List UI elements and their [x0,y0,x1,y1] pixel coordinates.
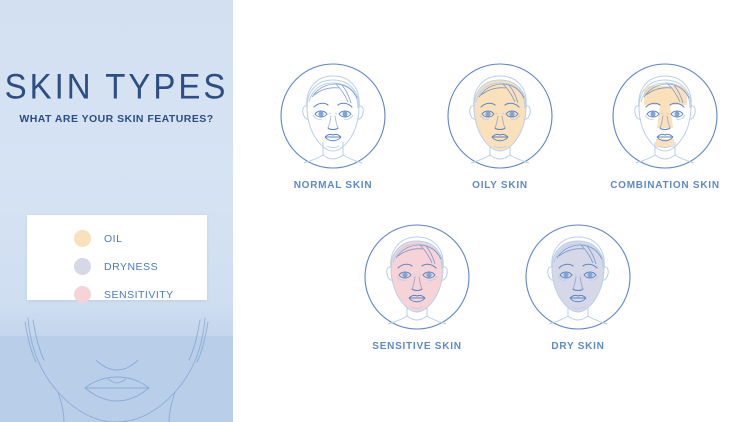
face-circle-normal-skin [279,62,387,170]
skin-type-grid: NORMAL SKIN [233,0,750,422]
page-subtitle: WHAT ARE YOUR SKIN FEATURES? [0,113,233,125]
legend-item-sensitivity[interactable]: SENSITIVITY [74,285,174,304]
card-oily-skin[interactable]: OILY SKIN [430,62,570,191]
legend-label-sensitivity: SENSITIVITY [104,289,174,301]
card-label-oily-skin: OILY SKIN [430,180,570,191]
legend-item-dryness[interactable]: DRYNESS [74,257,174,276]
card-label-dry-skin: DRY SKIN [508,341,648,352]
card-label-sensitive-skin: SENSITIVE SKIN [347,341,487,352]
face-circle-dry-skin [524,223,632,331]
card-sensitive-skin[interactable]: SENSITIVE SKIN [347,223,487,352]
legend-label-dryness: DRYNESS [104,261,158,273]
title-block: SKIN TYPES WHAT ARE YOUR SKIN FEATURES? [0,66,233,125]
infographic-canvas: SKIN TYPES WHAT ARE YOUR SKIN FEATURES? … [0,0,750,422]
legend-swatch-dryness [74,258,91,275]
page-title: SKIN TYPES [0,66,233,107]
legend-swatch-oil [74,230,91,247]
legend-swatch-sensitivity [74,286,91,303]
card-normal-skin[interactable]: NORMAL SKIN [263,62,403,191]
legend-label-oil: OIL [104,233,122,245]
legend-list: OIL DRYNESS SENSITIVITY [74,229,174,313]
decorative-face-illustration [0,318,233,422]
left-panel: SKIN TYPES WHAT ARE YOUR SKIN FEATURES? … [0,0,233,422]
card-dry-skin[interactable]: DRY SKIN [508,223,648,352]
legend-card: OIL DRYNESS SENSITIVITY [27,215,207,300]
card-label-combination-skin: COMBINATION SKIN [595,180,735,191]
face-circle-oily-skin [446,62,554,170]
card-combination-skin[interactable]: COMBINATION SKIN [595,62,735,191]
card-label-normal-skin: NORMAL SKIN [263,180,403,191]
legend-item-oil[interactable]: OIL [74,229,174,248]
face-circle-sensitive-skin [363,223,471,331]
face-circle-combination-skin [611,62,719,170]
